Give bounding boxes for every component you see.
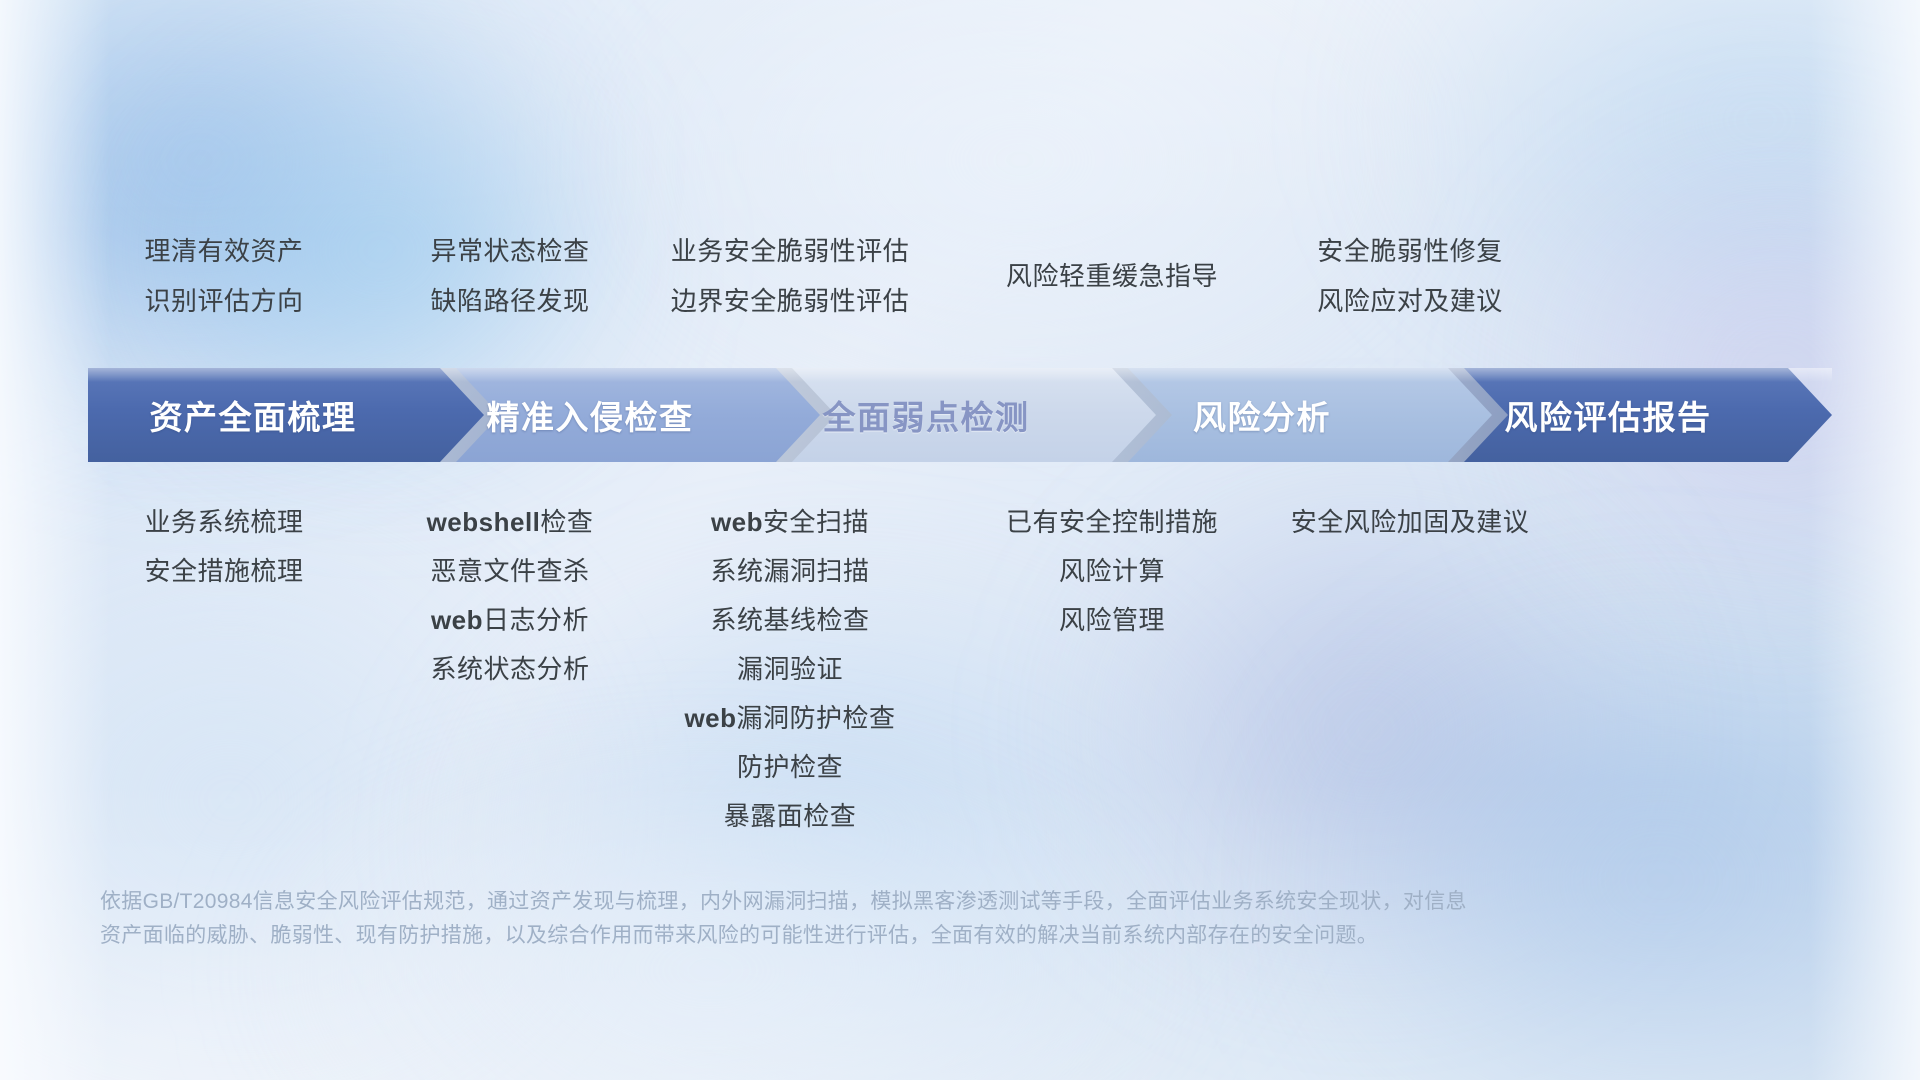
stage-top-items-5: 安全脆弱性修复风险应对及建议	[1186, 226, 1634, 326]
stage-label-1[interactable]: 资产全面梳理	[88, 368, 418, 462]
slide-canvas: 理清有效资产识别评估方向 异常状态检查缺陷路径发现 业务安全脆弱性评估边界安全脆…	[0, 0, 1920, 1080]
stage-bottom-items-5: 安全风险加固及建议	[1186, 498, 1634, 547]
stage-bottom-item-rest: 漏洞防护检查	[737, 703, 896, 733]
stage-bottom-item: 漏洞验证	[566, 645, 1014, 694]
stage-bottom-item: web漏洞防护检查	[566, 694, 1014, 743]
stage-label-2[interactable]: 精准入侵检查	[420, 368, 760, 462]
stage-bottom-item: 安全风险加固及建议	[1186, 498, 1634, 547]
footer-description: 依据GB/T20984信息安全风险评估规范，通过资产发现与梳理，内外网漏洞扫描，…	[100, 885, 1660, 953]
stage-bottom-item-keyword: web	[684, 703, 736, 733]
stage-bottom-item: 风险计算	[888, 547, 1336, 596]
stage-bottom-item: 风险管理	[888, 596, 1336, 645]
stage-label-4[interactable]: 风险分析	[1092, 368, 1432, 462]
footer-line-2: 资产面临的威胁、脆弱性、现有防护措施，以及综合作用而带来风险的可能性进行评估，全…	[100, 919, 1660, 953]
stage-bottom-item: 防护检查	[566, 743, 1014, 792]
footer-line-1: 依据GB/T20984信息安全风险评估规范，通过资产发现与梳理，内外网漏洞扫描，…	[100, 885, 1660, 919]
stage-label-3[interactable]: 全面弱点检测	[756, 368, 1096, 462]
stage-top-item: 安全脆弱性修复	[1186, 226, 1634, 276]
stage-bottom-item-rest: 安全扫描	[763, 507, 869, 537]
stage-bottom-item-keyword: web	[711, 507, 763, 537]
stage-bottom-item: 暴露面检查	[566, 792, 1014, 841]
stage-bottom-item-keyword: web	[431, 605, 483, 635]
stage-label-5[interactable]: 风险评估报告	[1424, 368, 1792, 462]
stage-top-item: 风险应对及建议	[1186, 276, 1634, 326]
stage-bottom-item-keyword: webshell	[427, 507, 541, 537]
